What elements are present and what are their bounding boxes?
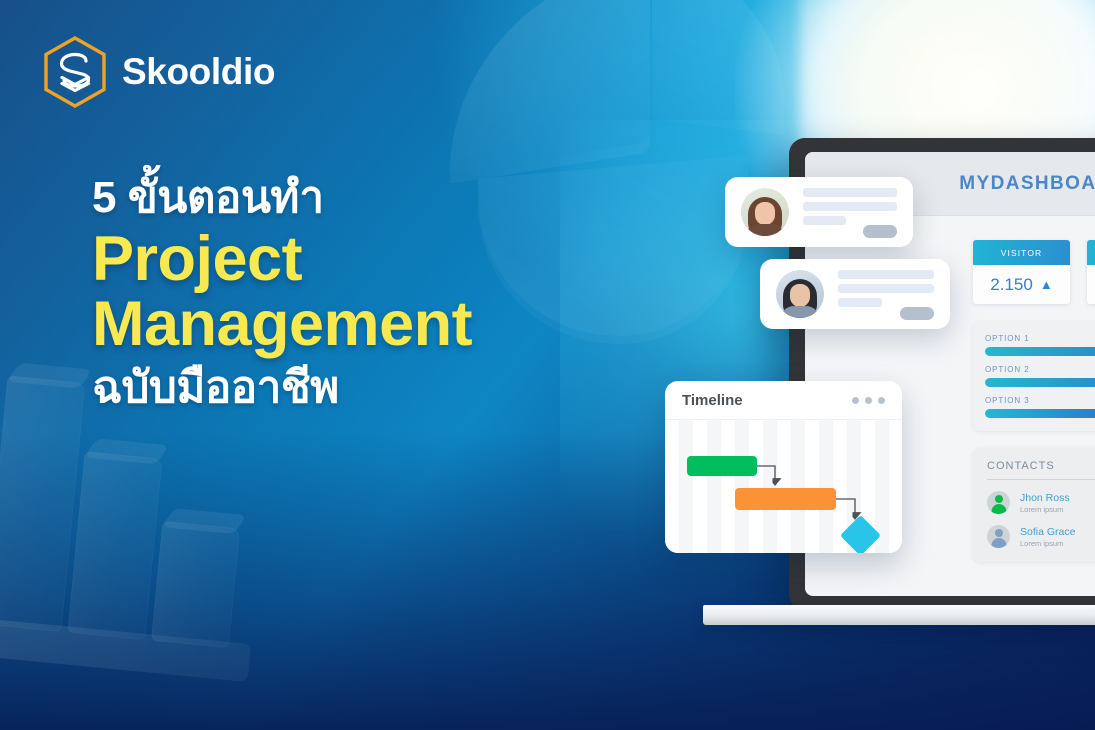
contact-name-2: Sofia Grace (1020, 526, 1075, 538)
hexagon-book-logo-icon (42, 36, 108, 108)
option-fill-1 (985, 347, 1095, 356)
contacts-title: CONTACTS (987, 460, 1095, 480)
pie-slice-1 (450, 0, 650, 174)
pie-slice-2 (652, 0, 784, 135)
timeline-title: Timeline (682, 392, 743, 409)
headline-line-2: Project (92, 227, 652, 293)
woman-business-suit-photo (776, 270, 824, 318)
headline-line-4: ฉบับมืออาชีพ (92, 366, 652, 411)
woman-brown-hair-photo (741, 188, 789, 236)
option-label-2: OPTION 2 (985, 365, 1095, 374)
headline-block: 5 ขั้นตอนทำ Project Management ฉบับมืออา… (92, 176, 652, 411)
contacts-card: CONTACTS Jhon Ross Lorem ipsum (973, 448, 1095, 562)
dashboard-title: MYDASHBOARD (897, 173, 1095, 195)
kpi-value: 2.150 (990, 275, 1033, 295)
kpi-label: VISITOR (973, 240, 1070, 265)
option-row-3: OPTION 3 (985, 396, 1095, 418)
poster-canvas: Skooldio 5 ขั้นตอนทำ Project Management … (0, 0, 1095, 730)
kpi-card-visitor[interactable]: VISITOR 2.150 ▲ (973, 240, 1070, 304)
brand-name: Skooldio (122, 51, 275, 93)
trend-up-icon: ▲ (1040, 277, 1053, 292)
headline-line-1: 5 ขั้นตอนทำ (92, 176, 652, 221)
contact-info-1: Jhon Ross Lorem ipsum (1020, 492, 1070, 514)
option-track-3[interactable] (985, 409, 1095, 418)
card-action-pill-2[interactable] (900, 307, 934, 320)
option-label-3: OPTION 3 (985, 396, 1095, 405)
headline-line-3: Management (92, 292, 652, 358)
card-action-pill-1[interactable] (863, 225, 897, 238)
timeline-task-orange[interactable] (735, 488, 836, 510)
floating-profile-card-2[interactable] (760, 259, 950, 329)
option-track-2[interactable] (985, 378, 1095, 387)
timeline-chart (665, 420, 902, 553)
timeline-header: Timeline (665, 381, 902, 420)
contact-row-1[interactable]: Jhon Ross Lorem ipsum (987, 491, 1095, 514)
timeline-task-green[interactable] (687, 456, 757, 476)
watermark-bar-2 (67, 451, 162, 640)
contact-row-2[interactable]: Sofia Grace Lorem ipsum (987, 525, 1095, 548)
floating-profile-card-1[interactable] (725, 177, 913, 247)
laptop-base (703, 605, 1095, 625)
kpi-value-2 (1087, 265, 1095, 304)
placeholder-lines-2 (838, 270, 934, 318)
person-avatar-icon (987, 525, 1010, 548)
kpi-row: VISITOR 2.150 ▲ (973, 240, 1095, 304)
option-label-1: OPTION 1 (985, 334, 1095, 343)
person-avatar-icon (987, 491, 1010, 514)
option-row-2: OPTION 2 (985, 365, 1095, 387)
timeline-card[interactable]: Timeline (665, 381, 902, 553)
three-dots-menu-icon[interactable] (852, 397, 885, 404)
option-row-1: OPTION 1 (985, 334, 1095, 356)
options-progress-card: OPTION 1 OPTION 2 OPTION 3 (973, 322, 1095, 431)
kpi-label-2 (1087, 240, 1095, 265)
contact-name-1: Jhon Ross (1020, 492, 1070, 504)
contact-subtitle-1: Lorem ipsum (1020, 505, 1070, 514)
contact-subtitle-2: Lorem ipsum (1020, 539, 1075, 548)
kpi-value-wrap: 2.150 ▲ (973, 265, 1070, 304)
option-fill-2 (985, 378, 1095, 387)
contact-info-2: Sofia Grace Lorem ipsum (1020, 526, 1075, 548)
kpi-card-secondary[interactable] (1087, 240, 1095, 304)
brand-logo[interactable]: Skooldio (42, 36, 275, 108)
option-track-1[interactable] (985, 347, 1095, 356)
watermark-bar-3 (151, 521, 240, 648)
placeholder-lines-1 (803, 188, 897, 236)
option-fill-3 (985, 409, 1095, 418)
